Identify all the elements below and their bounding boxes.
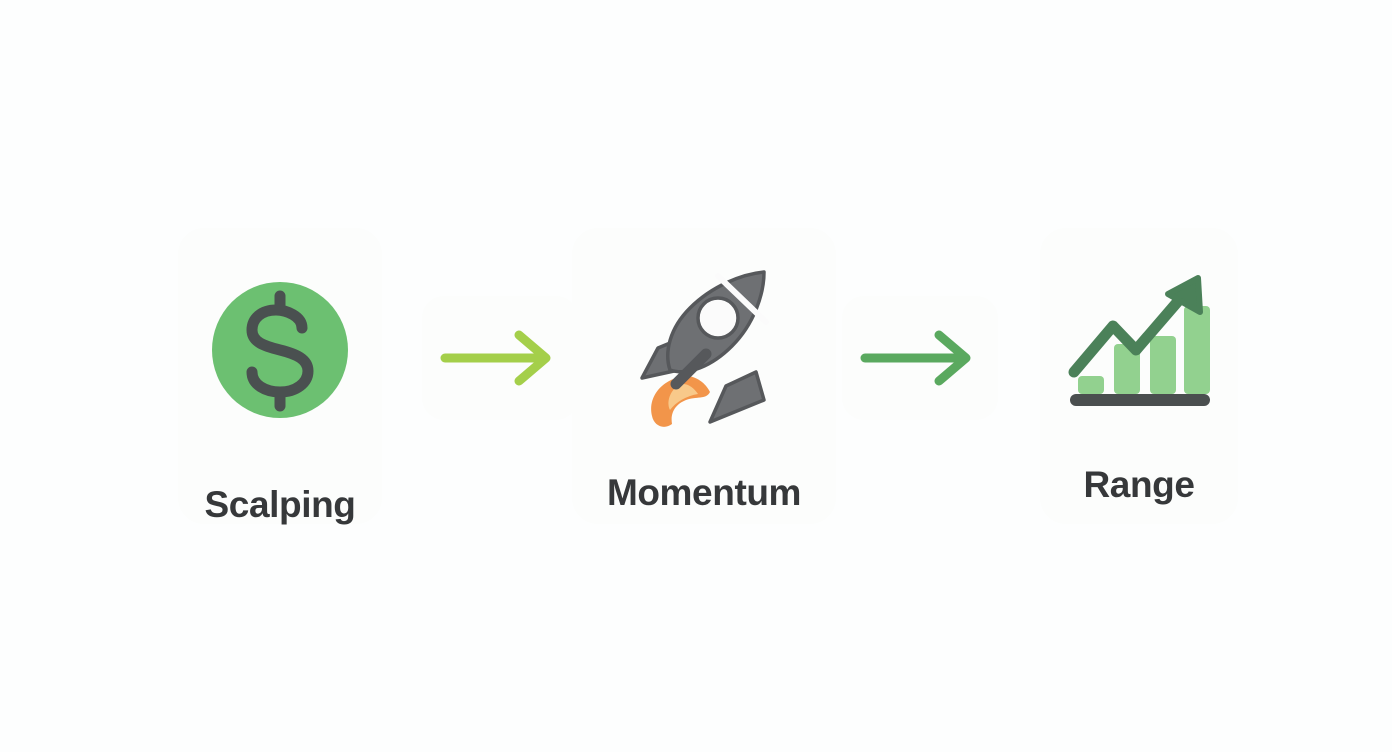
stage-label-momentum: Momentum (607, 474, 801, 511)
stage-momentum[interactable]: Momentum (572, 228, 836, 524)
chart-bar-3 (1150, 336, 1176, 394)
stage-scalping[interactable]: Scalping (178, 228, 382, 524)
rocket-icon (614, 260, 794, 436)
growth-chart-icon-wrap (1066, 268, 1212, 414)
dollar-coin-icon-wrap (210, 280, 350, 420)
flow-canvas: Scalping (0, 0, 1392, 752)
dollar-coin-icon (210, 280, 350, 420)
connector-scalping-to-momentum (422, 296, 578, 420)
growth-chart-icon (1066, 268, 1212, 414)
stage-range[interactable]: Range (1040, 228, 1238, 524)
connector-momentum-to-range (842, 296, 998, 420)
arrow-right-icon (859, 327, 981, 389)
rocket-icon-wrap (614, 260, 794, 436)
chart-baseline (1070, 394, 1210, 406)
chart-bar-1 (1078, 376, 1104, 394)
stage-label-scalping: Scalping (205, 486, 356, 523)
chart-bar-4 (1184, 306, 1210, 394)
stage-label-range: Range (1083, 466, 1194, 503)
arrow-right-icon (439, 327, 561, 389)
